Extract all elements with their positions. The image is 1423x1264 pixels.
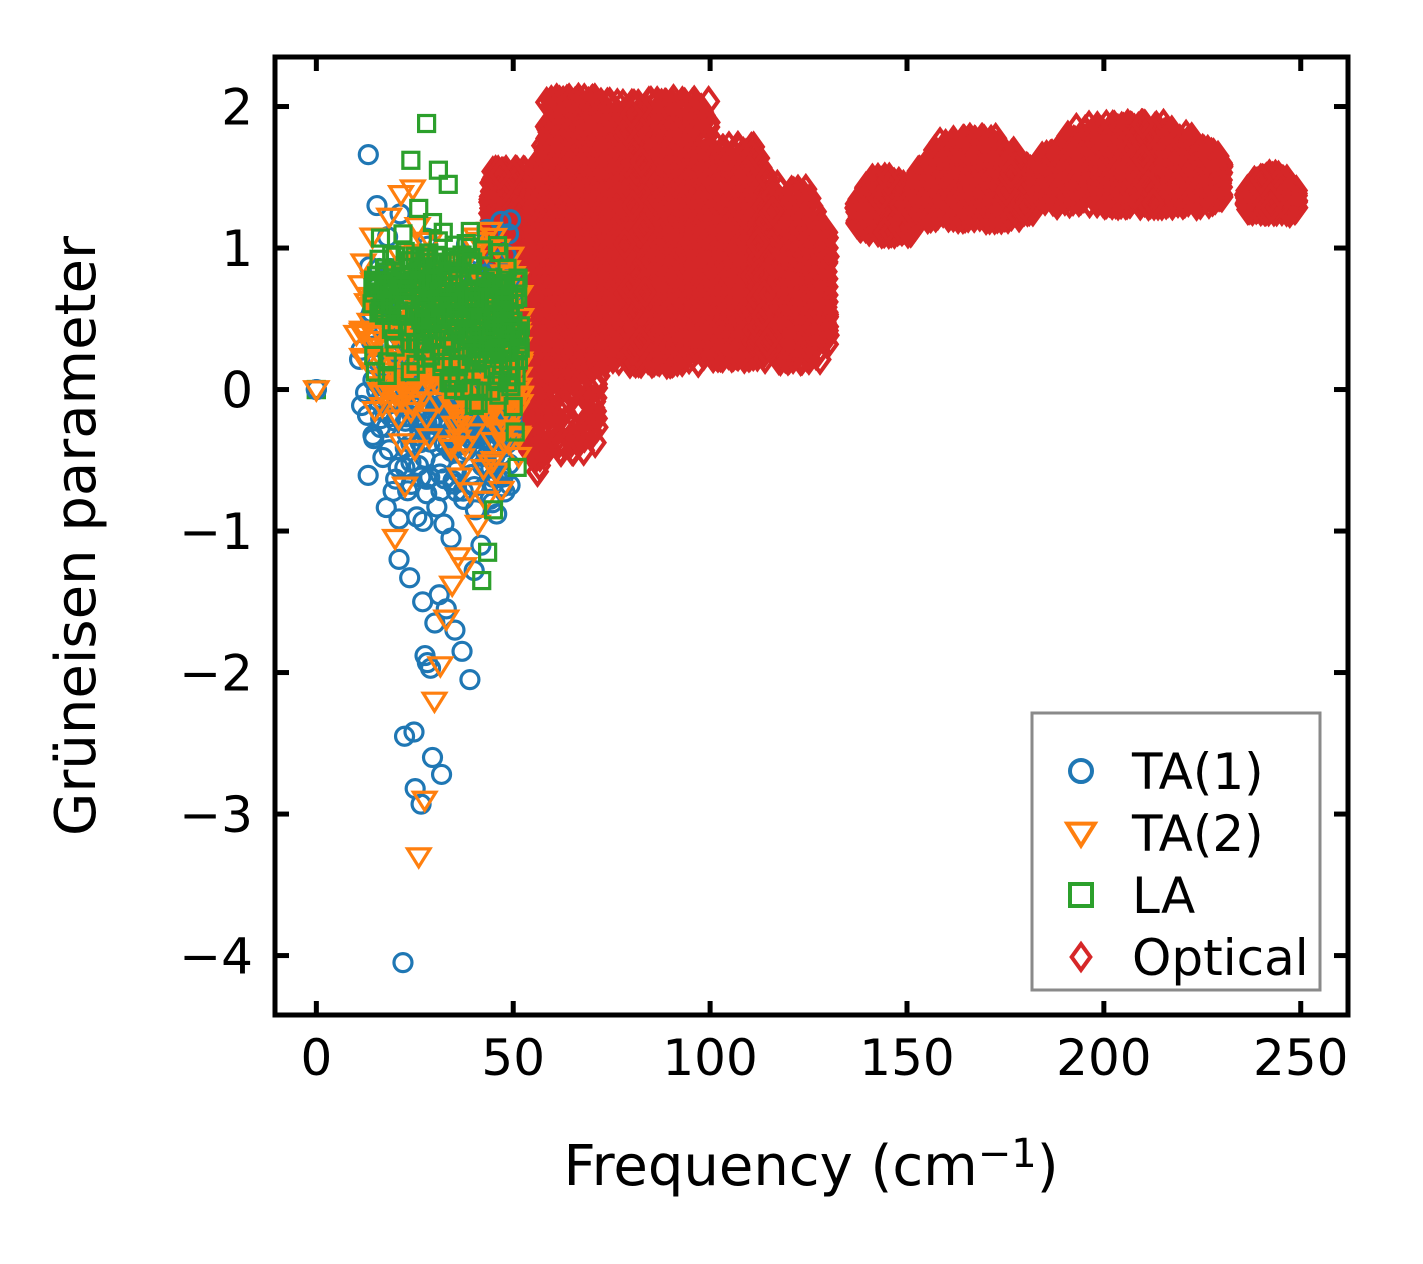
scatter-plot: 050100150200250 210−1−2−3−4 Frequency (c… [0, 0, 1423, 1264]
figure-canvas: 050100150200250 210−1−2−3−4 Frequency (c… [0, 0, 1423, 1264]
